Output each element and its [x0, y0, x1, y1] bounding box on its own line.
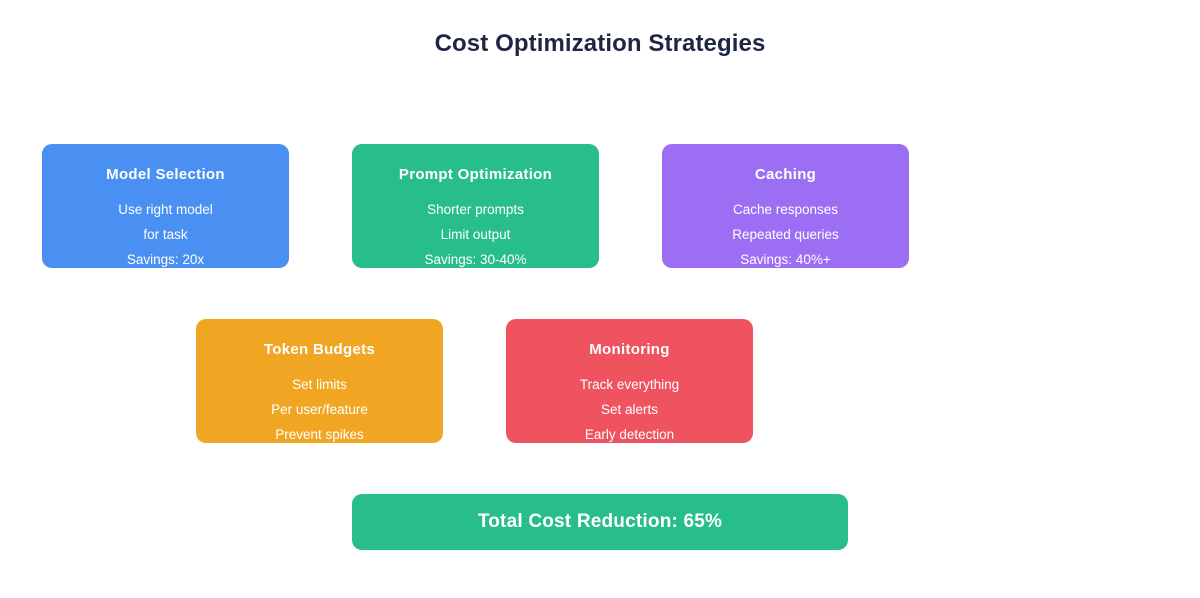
- card-body: Shorter prompts Limit output Savings: 30…: [352, 197, 599, 272]
- card-body: Cache responses Repeated queries Savings…: [662, 197, 909, 272]
- card-body: Use right model for task Savings: 20x: [42, 197, 289, 272]
- card-title: Model Selection: [42, 166, 289, 183]
- card-line: Shorter prompts: [352, 197, 599, 222]
- card-line: Prevent spikes: [196, 422, 443, 447]
- card-title: Monitoring: [506, 341, 753, 358]
- diagram-canvas: Cost Optimization Strategies Model Selec…: [0, 0, 1200, 598]
- strategy-card-model-selection[interactable]: Model Selection Use right model for task…: [42, 144, 289, 268]
- page-title: Cost Optimization Strategies: [0, 30, 1200, 58]
- total-cost-reduction-banner[interactable]: Total Cost Reduction: 65%: [352, 494, 848, 550]
- card-line: Early detection: [506, 422, 753, 447]
- card-title: Prompt Optimization: [352, 166, 599, 183]
- card-title: Token Budgets: [196, 341, 443, 358]
- card-line: Repeated queries: [662, 222, 909, 247]
- card-line: Set limits: [196, 372, 443, 397]
- card-line: Use right model: [42, 197, 289, 222]
- card-body: Track everything Set alerts Early detect…: [506, 372, 753, 447]
- total-cost-reduction-label: Total Cost Reduction: 65%: [478, 511, 722, 533]
- card-line: Set alerts: [506, 397, 753, 422]
- card-savings: Savings: 40%+: [662, 247, 909, 272]
- strategy-card-monitoring[interactable]: Monitoring Track everything Set alerts E…: [506, 319, 753, 443]
- card-line: Track everything: [506, 372, 753, 397]
- card-savings: Savings: 20x: [42, 247, 289, 272]
- card-line: Per user/feature: [196, 397, 443, 422]
- card-line: for task: [42, 222, 289, 247]
- strategy-card-token-budgets[interactable]: Token Budgets Set limits Per user/featur…: [196, 319, 443, 443]
- card-line: Cache responses: [662, 197, 909, 222]
- strategy-card-prompt-optimization[interactable]: Prompt Optimization Shorter prompts Limi…: [352, 144, 599, 268]
- strategy-card-caching[interactable]: Caching Cache responses Repeated queries…: [662, 144, 909, 268]
- card-line: Limit output: [352, 222, 599, 247]
- card-body: Set limits Per user/feature Prevent spik…: [196, 372, 443, 447]
- card-savings: Savings: 30-40%: [352, 247, 599, 272]
- card-title: Caching: [662, 166, 909, 183]
